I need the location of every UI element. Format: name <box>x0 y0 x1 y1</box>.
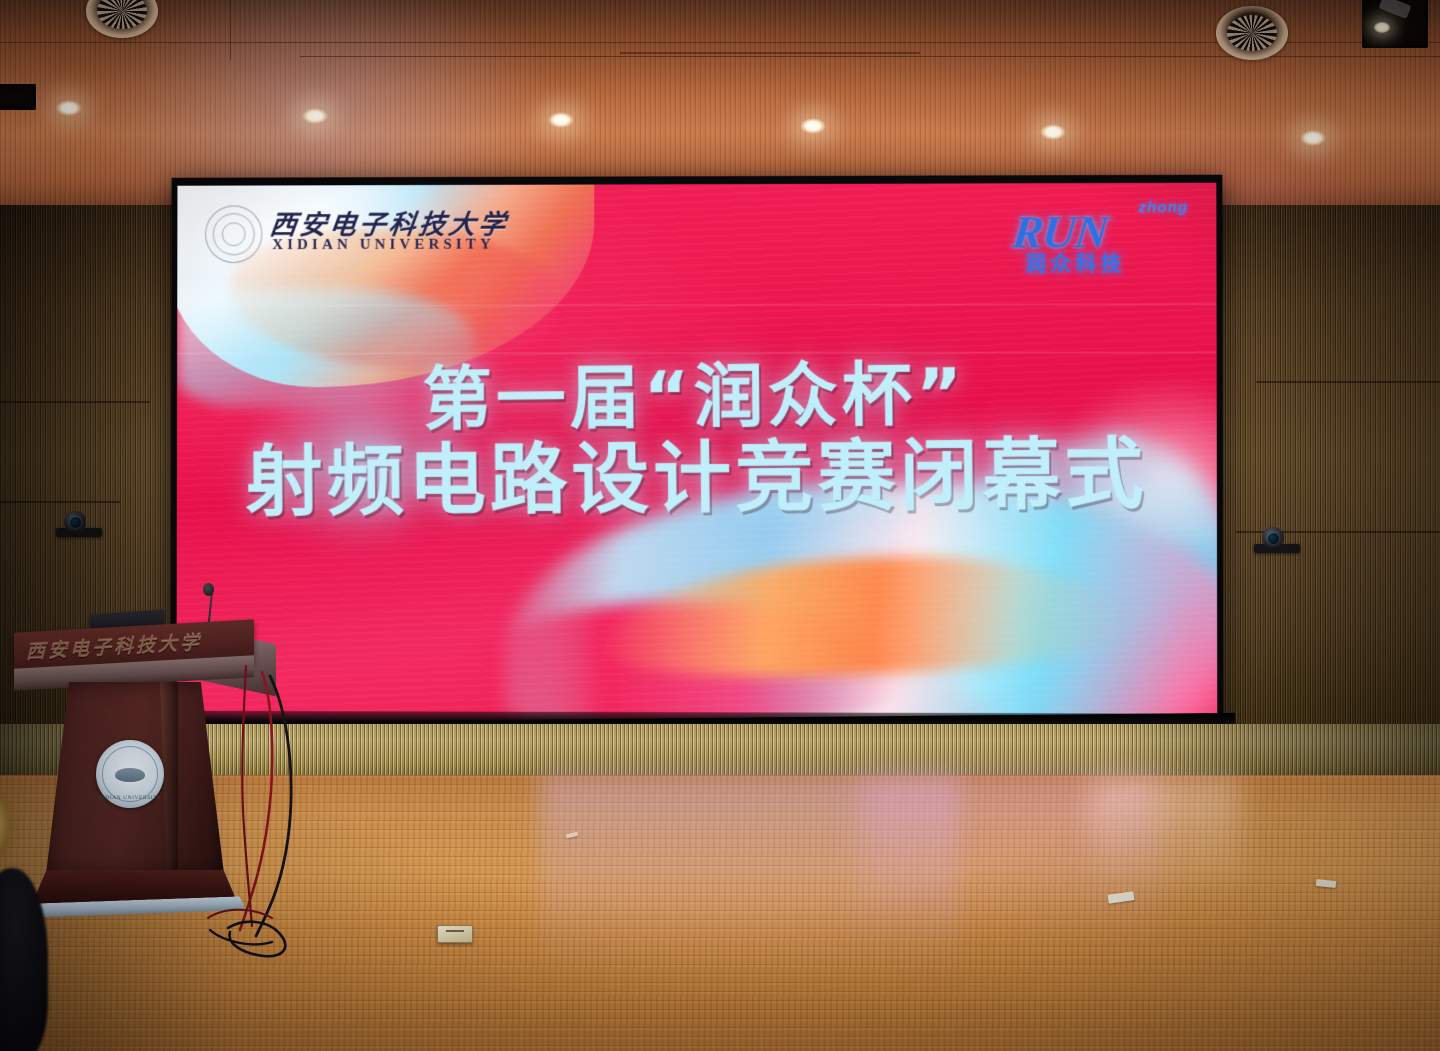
auditorium-scene: 西安电子科技大学 XIDIAN UNIVERSITY RUN zhong 润众科… <box>0 0 1440 1051</box>
seal-english-text: XIDIAN UNIVERSITY <box>96 795 164 801</box>
microphone-icon <box>203 583 214 596</box>
ceiling-vent-icon <box>1216 6 1288 60</box>
sponsor-logo: RUN zhong 润众科技 <box>1003 197 1195 272</box>
downlight-icon <box>1300 130 1326 146</box>
ceiling-seam <box>620 52 920 54</box>
led-screen: 西安电子科技大学 XIDIAN UNIVERSITY RUN zhong 润众科… <box>176 183 1217 724</box>
xidian-emblem-icon <box>205 205 262 263</box>
spotlight-body <box>1378 0 1411 19</box>
seal-bird-icon <box>115 768 145 782</box>
lectern: 西安电子科技大学 XIDIAN UNIVERSITY <box>8 612 268 932</box>
ceiling-spotlight-housing <box>0 84 36 110</box>
downlight-icon <box>1040 124 1066 140</box>
floor-white-reflection <box>1090 778 1240 928</box>
stage-wall-shadow-right <box>1110 724 1440 782</box>
floor-outlet-box <box>437 925 473 943</box>
downlight-icon <box>302 108 328 124</box>
event-title: 第一届“润众杯” 射频电路设计竞赛闭幕式 <box>176 354 1217 525</box>
sponsor-superscript: zhong <box>1139 199 1189 216</box>
sponsor-name-chinese: 润众科技 <box>1025 247 1126 277</box>
event-title-line2: 射频电路设计竞赛闭幕式 <box>177 433 1217 525</box>
ceiling-seam <box>230 0 231 60</box>
university-name-english: XIDIAN UNIVERSITY <box>272 237 495 254</box>
university-logo: 西安电子科技大学 XIDIAN UNIVERSITY <box>205 201 503 267</box>
spotlight-lamp-icon <box>1374 22 1390 33</box>
university-seal: XIDIAN UNIVERSITY <box>96 740 164 808</box>
led-screen-frame: 西安电子科技大学 XIDIAN UNIVERSITY RUN zhong 润众科… <box>171 175 1224 734</box>
downlight-icon <box>56 100 82 116</box>
ceiling-spotlight-housing <box>1362 0 1428 48</box>
downlight-icon <box>548 112 574 128</box>
event-title-line1: 第一届“润众杯” <box>176 354 1216 439</box>
downlight-icon <box>800 118 826 134</box>
